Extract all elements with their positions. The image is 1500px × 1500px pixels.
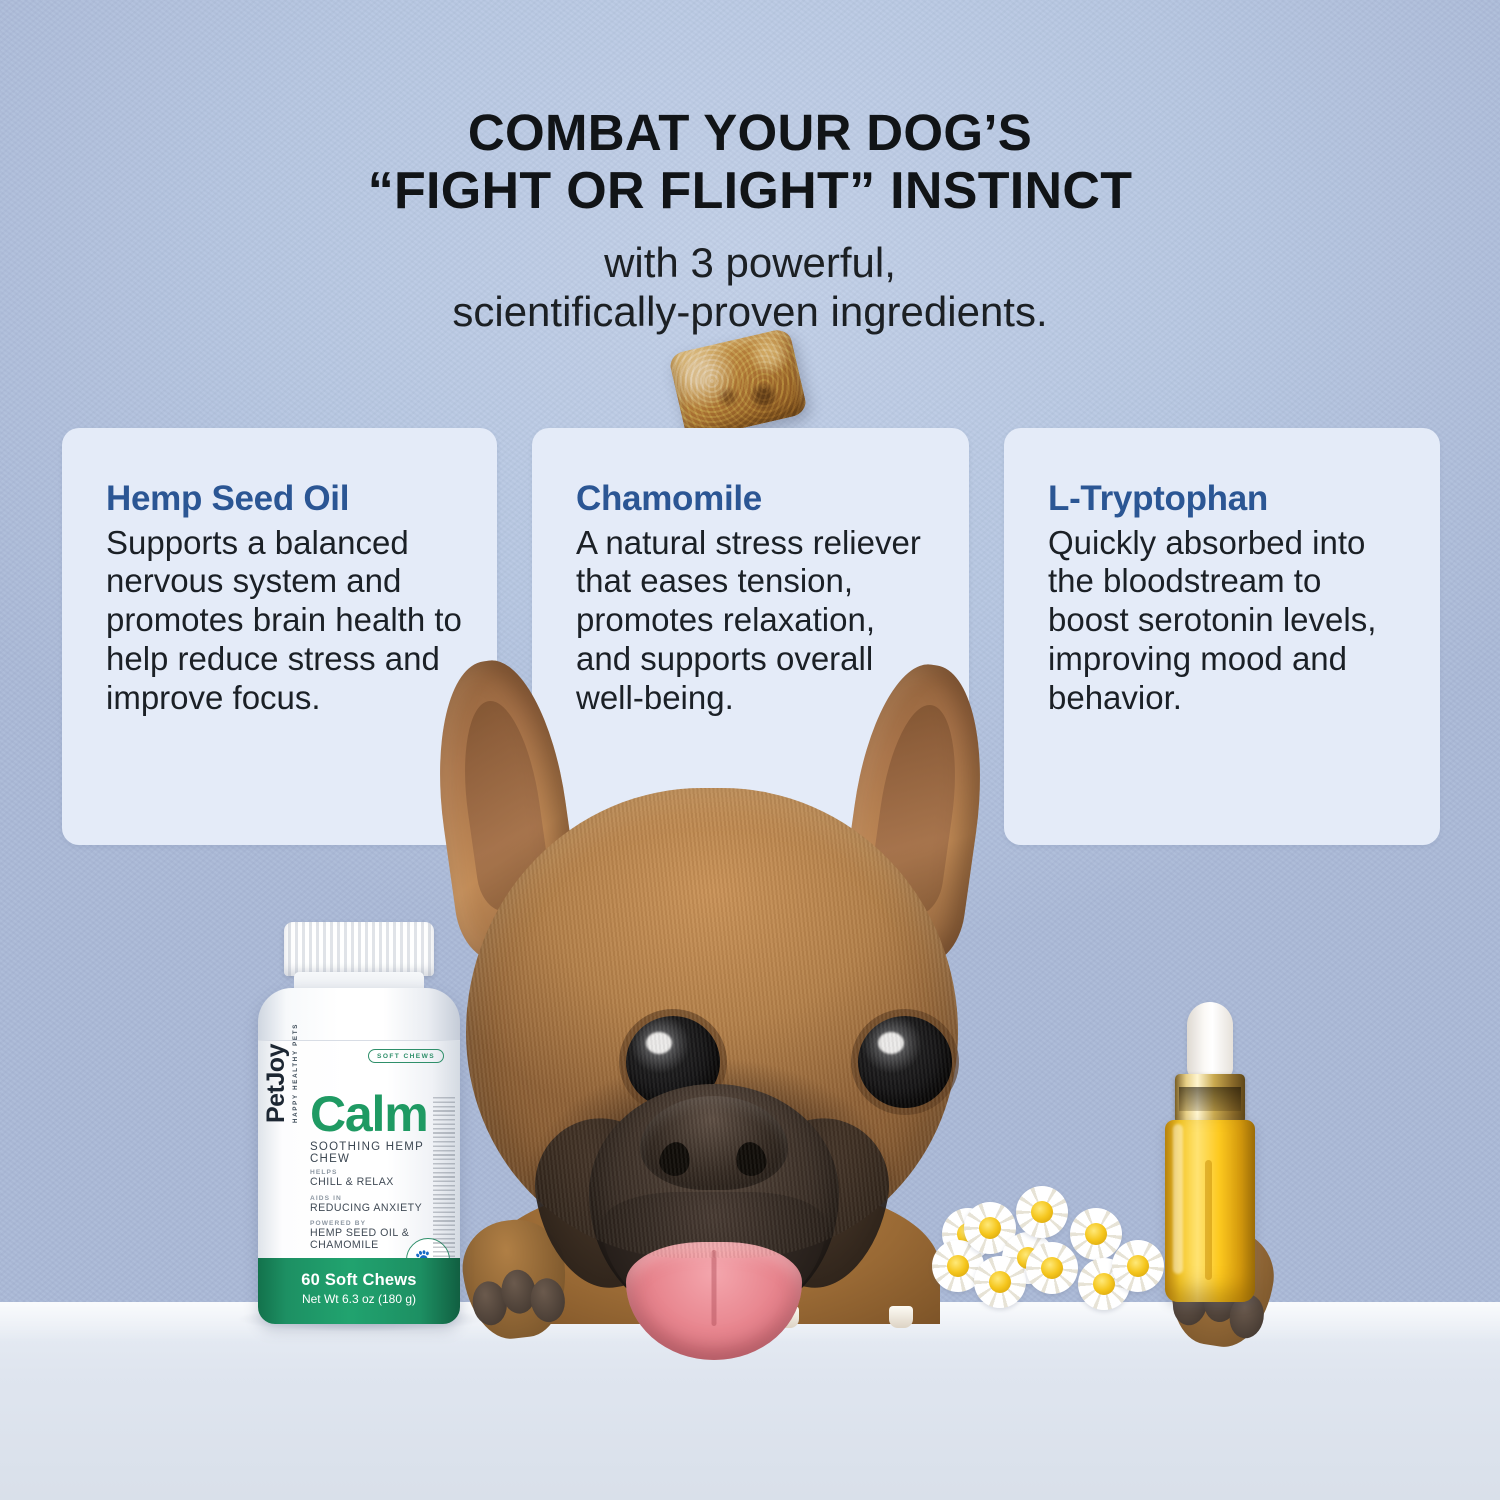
page-subheading: with 3 powerful, scientifically-proven i…	[0, 239, 1500, 336]
dog-head	[466, 788, 958, 1258]
brand-tagline: HAPPY HEALTHY PETS	[292, 995, 299, 1123]
hemp-oil-dropper-bottle-image	[1155, 1002, 1265, 1302]
product-subtitle: SOOTHING HEMP CHEW	[310, 1141, 450, 1165]
dropper-glass-body	[1165, 1120, 1255, 1302]
claim-label: POWERED BY	[310, 1220, 450, 1227]
headline-line-2: “FIGHT OR FLIGHT” INSTINCT	[0, 162, 1500, 221]
product-bottle: PetJoy HAPPY HEALTHY PETS SOFT CHEWS Cal…	[250, 922, 466, 1324]
product-name: Calm	[310, 1089, 440, 1139]
headline-line-1: COMBAT YOUR DOG’S	[0, 104, 1500, 162]
subheading-line-1: with 3 powerful,	[0, 239, 1500, 288]
dog-nostril-left	[657, 1139, 693, 1178]
form-badge: SOFT CHEWS	[368, 1049, 444, 1063]
chamomile-flower	[974, 1256, 1026, 1308]
dropper-collar	[1175, 1074, 1245, 1124]
claim-value: REDUCING ANXIETY	[310, 1202, 450, 1214]
product-net-weight: Net Wt 6.3 oz (180 g)	[258, 1292, 460, 1306]
dog-tooth	[889, 1306, 913, 1328]
dog-eye-right	[858, 1016, 952, 1108]
dog-nostril-right	[733, 1139, 769, 1178]
brand-logo: PetJoy HAPPY HEALTHY PETS	[262, 995, 288, 1123]
bottle-label: PetJoy HAPPY HEALTHY PETS SOFT CHEWS Cal…	[258, 1040, 460, 1324]
bottle-cap	[284, 922, 434, 976]
dropper-bulb	[1187, 1002, 1233, 1080]
ingredient-card-description: Quickly absorbed into the bloodstream to…	[1048, 524, 1406, 719]
claim-value: CHILL & RELAX	[310, 1176, 450, 1188]
ingredient-card-title: Hemp Seed Oil	[106, 480, 463, 519]
dog-muzzle	[589, 1084, 839, 1322]
ingredient-card-title: L-Tryptophan	[1048, 480, 1406, 519]
chamomile-flowers-image	[930, 1182, 1150, 1314]
claim-label: AIDS IN	[310, 1195, 450, 1202]
ingredient-card-l-tryptophan: L-Tryptophan Quickly absorbed into the b…	[1004, 428, 1440, 845]
product-count: 60 Soft Chews	[258, 1271, 460, 1290]
claim-label: HELPS	[310, 1169, 450, 1176]
subheading-line-2: scientifically-proven ingredients.	[0, 288, 1500, 337]
brand-name: PetJoy	[262, 1044, 290, 1123]
bottle-footer-band: 60 Soft Chews Net Wt 6.3 oz (180 g)	[258, 1258, 460, 1324]
ingredient-card-title: Chamomile	[576, 480, 935, 519]
dog-nose	[640, 1096, 788, 1190]
dog-eye-left	[626, 1016, 720, 1108]
chamomile-flower	[1016, 1186, 1072, 1242]
chamomile-flower	[1112, 1240, 1156, 1284]
bottle-body: PetJoy HAPPY HEALTHY PETS SOFT CHEWS Cal…	[258, 988, 460, 1324]
page-headline: COMBAT YOUR DOG’S “FIGHT OR FLIGHT” INST…	[0, 104, 1500, 221]
